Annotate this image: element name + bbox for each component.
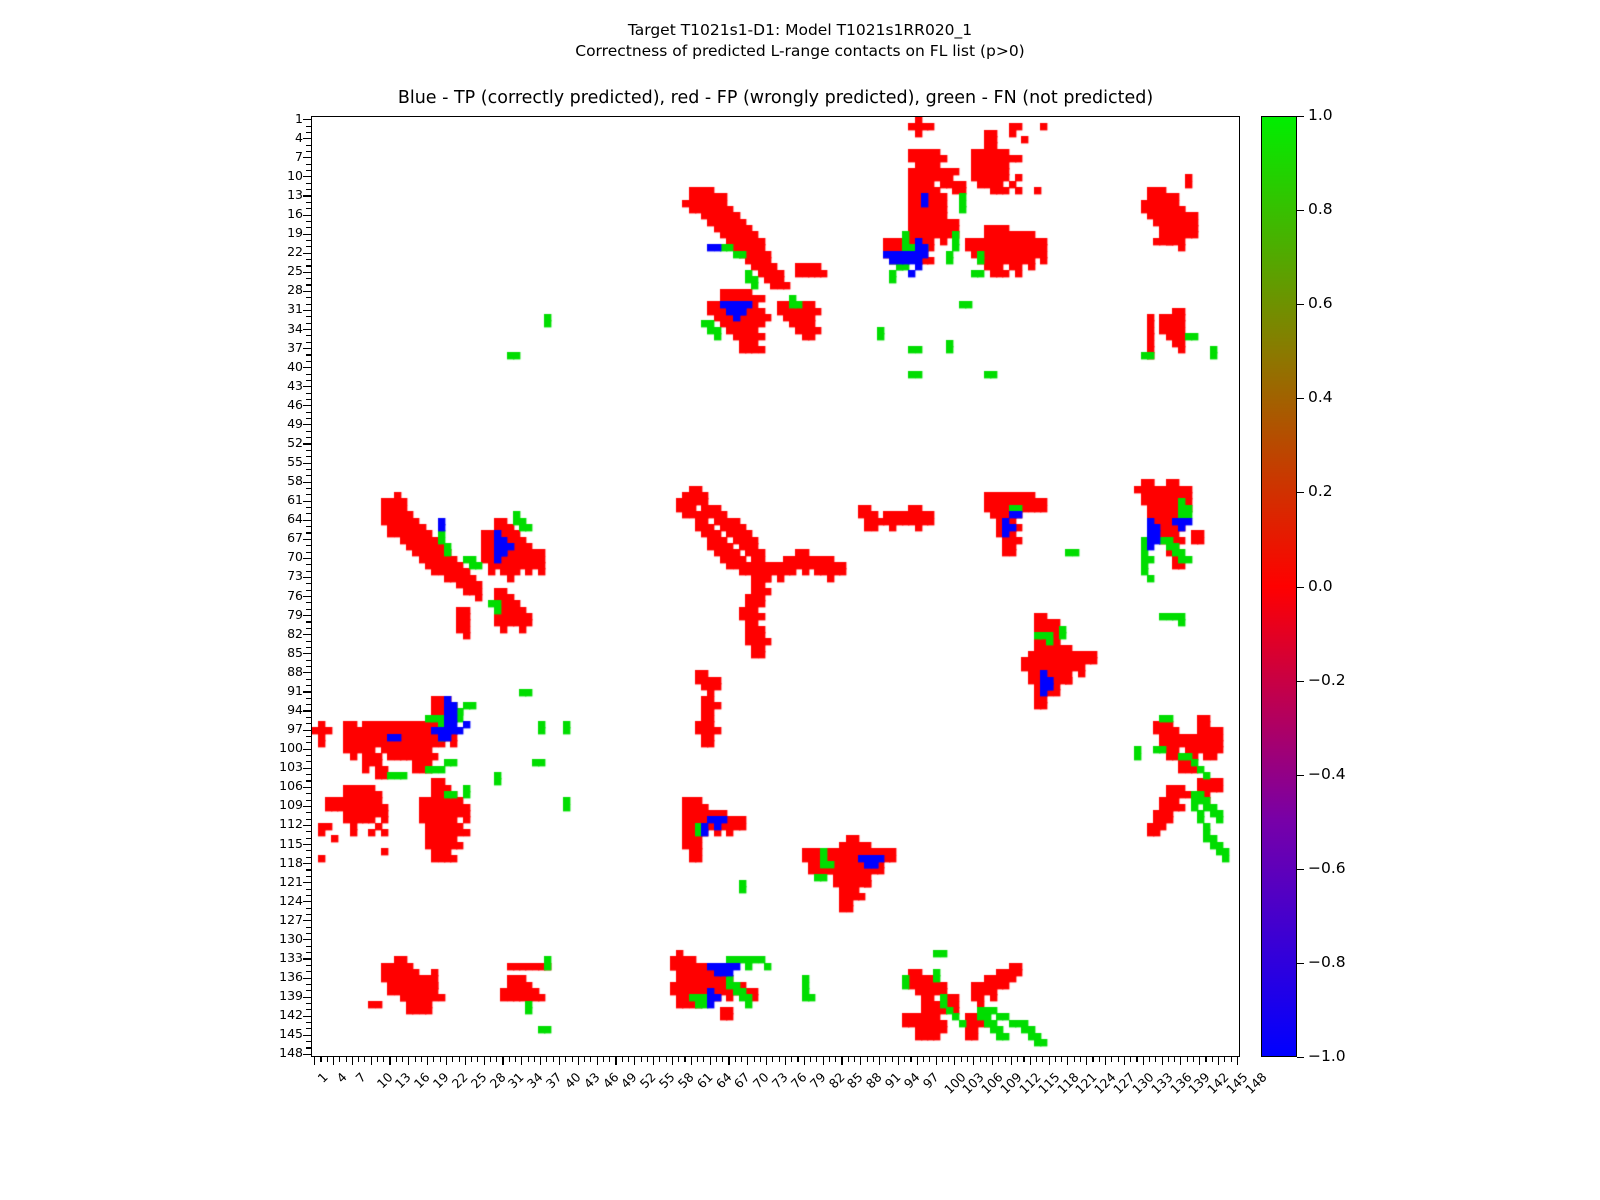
x-tick-major <box>766 1057 767 1065</box>
y-tick-minor <box>306 1028 311 1029</box>
x-tick-major <box>1180 1057 1181 1065</box>
y-tick-minor <box>306 304 311 305</box>
x-tick-minor <box>565 1057 566 1062</box>
y-tick-minor <box>306 278 311 279</box>
y-tick-label: 7 <box>259 151 303 164</box>
colorbar-tick-label: −0.4 <box>1308 767 1346 783</box>
x-tick-minor <box>584 1057 585 1062</box>
x-tick-major <box>559 1057 560 1065</box>
x-tick-minor <box>1149 1057 1150 1062</box>
y-tick-minor <box>306 742 311 743</box>
x-tick-minor <box>647 1057 648 1062</box>
x-tick-minor <box>1074 1057 1075 1062</box>
x-tick-minor <box>1061 1057 1062 1062</box>
y-tick-major <box>303 482 311 483</box>
x-tick-minor <box>1130 1057 1131 1062</box>
y-tick-label: 79 <box>259 609 303 622</box>
y-tick-label: 52 <box>259 437 303 450</box>
x-tick-minor <box>684 1057 685 1062</box>
colorbar-tick-label: −0.8 <box>1308 955 1346 971</box>
x-tick-minor <box>829 1057 830 1062</box>
y-tick-minor <box>306 202 311 203</box>
y-tick-minor <box>306 246 311 247</box>
x-tick-minor <box>1111 1057 1112 1062</box>
x-tick-label: 4 <box>335 1071 349 1085</box>
y-tick-label: 61 <box>259 494 303 507</box>
x-tick-minor <box>1136 1057 1137 1062</box>
colorbar[interactable] <box>1261 116 1297 1057</box>
y-tick-label: 67 <box>259 532 303 545</box>
y-tick-major <box>303 539 311 540</box>
x-tick-minor <box>1055 1057 1056 1062</box>
x-tick-minor <box>854 1057 855 1062</box>
y-tick-label: 115 <box>259 838 303 851</box>
x-tick-minor <box>1187 1057 1188 1062</box>
y-tick-minor <box>306 316 311 317</box>
x-tick-minor <box>1174 1057 1175 1062</box>
y-tick-minor <box>306 297 311 298</box>
x-tick-major <box>1011 1057 1012 1065</box>
x-tick-major <box>597 1057 598 1065</box>
y-tick-major <box>303 749 311 750</box>
y-tick-minor <box>306 812 311 813</box>
y-tick-major <box>303 1035 311 1036</box>
colorbar-tick-label: 0.6 <box>1308 296 1333 312</box>
x-tick-major <box>1143 1057 1144 1065</box>
y-tick-minor <box>306 361 311 362</box>
y-tick-minor <box>306 590 311 591</box>
x-tick-minor <box>1212 1057 1213 1062</box>
colorbar-tick <box>1297 681 1304 682</box>
colorbar-tick-label: −0.2 <box>1308 673 1346 689</box>
x-tick-minor <box>1080 1057 1081 1062</box>
y-tick-minor <box>306 126 311 127</box>
y-tick-major <box>303 634 311 635</box>
y-tick-major <box>303 691 311 692</box>
x-tick-minor <box>509 1057 510 1062</box>
y-tick-major <box>303 138 311 139</box>
x-tick-major <box>333 1057 334 1065</box>
x-tick-minor <box>471 1057 472 1062</box>
y-tick-major <box>303 443 311 444</box>
x-tick-major <box>634 1057 635 1065</box>
y-tick-minor <box>306 800 311 801</box>
y-tick-minor <box>306 1041 311 1042</box>
x-tick-major <box>841 1057 842 1065</box>
x-tick-minor <box>528 1057 529 1062</box>
y-tick-label: 145 <box>259 1028 303 1041</box>
y-tick-major <box>303 272 311 273</box>
x-tick-minor <box>835 1057 836 1062</box>
y-tick-label: 73 <box>259 570 303 583</box>
y-tick-minor <box>306 857 311 858</box>
x-tick-major <box>672 1057 673 1065</box>
x-tick-major <box>1049 1057 1050 1065</box>
y-tick-minor <box>306 984 311 985</box>
y-tick-minor <box>306 354 311 355</box>
y-tick-minor <box>306 850 311 851</box>
x-tick-major <box>1105 1057 1106 1065</box>
y-tick-minor <box>306 698 311 699</box>
y-tick-minor <box>306 469 311 470</box>
x-tick-minor <box>452 1057 453 1062</box>
x-tick-label: 97 <box>921 1071 941 1091</box>
y-tick-minor <box>306 564 311 565</box>
y-tick-label: 109 <box>259 799 303 812</box>
y-tick-label: 22 <box>259 246 303 259</box>
x-tick-major <box>1124 1057 1125 1065</box>
y-tick-minor <box>306 374 311 375</box>
y-tick-major <box>303 119 311 120</box>
x-tick-minor <box>772 1057 773 1062</box>
y-tick-major <box>303 825 311 826</box>
x-tick-minor <box>553 1057 554 1062</box>
y-tick-label: 139 <box>259 990 303 1003</box>
x-tick-minor <box>1193 1057 1194 1062</box>
x-tick-major <box>578 1057 579 1065</box>
x-tick-minor <box>810 1057 811 1062</box>
y-tick-major <box>303 882 311 883</box>
y-tick-minor <box>306 507 311 508</box>
y-tick-minor <box>306 641 311 642</box>
y-tick-minor <box>306 450 311 451</box>
y-tick-label: 28 <box>259 284 303 297</box>
y-tick-major <box>303 768 311 769</box>
y-tick-label: 40 <box>259 361 303 374</box>
x-tick-minor <box>364 1057 365 1062</box>
y-tick-major <box>303 1054 311 1055</box>
x-tick-minor <box>816 1057 817 1062</box>
x-tick-major <box>804 1057 805 1065</box>
y-tick-major <box>303 348 311 349</box>
y-tick-minor <box>306 793 311 794</box>
x-tick-major <box>1162 1057 1163 1065</box>
y-tick-major <box>303 997 311 998</box>
x-tick-minor <box>1168 1057 1169 1062</box>
x-tick-minor <box>760 1057 761 1062</box>
y-tick-major <box>303 424 311 425</box>
x-tick-major <box>521 1057 522 1065</box>
x-tick-major <box>446 1057 447 1065</box>
x-tick-minor <box>867 1057 868 1062</box>
y-tick-minor <box>306 456 311 457</box>
y-tick-label: 49 <box>259 418 303 431</box>
y-tick-minor <box>306 437 311 438</box>
x-tick-minor <box>848 1057 849 1062</box>
y-tick-minor <box>306 189 311 190</box>
y-tick-minor <box>306 526 311 527</box>
y-tick-major <box>303 939 311 940</box>
y-tick-minor <box>306 1003 311 1004</box>
x-tick-minor <box>1155 1057 1156 1062</box>
colorbar-tick-label: −1.0 <box>1308 1049 1346 1065</box>
x-tick-minor <box>892 1057 893 1062</box>
y-tick-minor <box>306 335 311 336</box>
y-tick-label: 55 <box>259 456 303 469</box>
colorbar-tick <box>1297 963 1304 964</box>
y-tick-label: 100 <box>259 742 303 755</box>
x-tick-minor <box>741 1057 742 1062</box>
colorbar-tick-label: 0.8 <box>1308 202 1333 218</box>
y-tick-label: 127 <box>259 914 303 927</box>
x-tick-label: 7 <box>354 1071 368 1085</box>
x-tick-minor <box>980 1057 981 1062</box>
x-tick-minor <box>779 1057 780 1062</box>
y-tick-major <box>303 405 311 406</box>
colorbar-tick <box>1297 775 1304 776</box>
y-tick-minor <box>306 132 311 133</box>
x-tick-minor <box>546 1057 547 1062</box>
y-tick-minor <box>306 895 311 896</box>
y-tick-minor <box>306 819 311 820</box>
colorbar-tick-label: −0.6 <box>1308 861 1346 877</box>
x-tick-minor <box>440 1057 441 1062</box>
y-tick-label: 106 <box>259 780 303 793</box>
x-tick-major <box>484 1057 485 1065</box>
colorbar-tick <box>1297 587 1304 588</box>
y-tick-label: 88 <box>259 666 303 679</box>
y-tick-minor <box>306 431 311 432</box>
x-tick-minor <box>791 1057 792 1062</box>
x-tick-minor <box>1005 1057 1006 1062</box>
contact-map-plot-area[interactable] <box>311 116 1240 1057</box>
x-tick-minor <box>421 1057 422 1062</box>
x-tick-minor <box>754 1057 755 1062</box>
x-tick-major <box>710 1057 711 1065</box>
x-tick-major <box>653 1057 654 1065</box>
y-tick-major <box>303 520 311 521</box>
y-tick-major <box>303 386 311 387</box>
y-tick-major <box>303 901 311 902</box>
x-tick-minor <box>320 1057 321 1062</box>
y-tick-label: 10 <box>259 170 303 183</box>
y-tick-minor <box>306 571 311 572</box>
x-tick-major <box>785 1057 786 1065</box>
x-tick-major <box>465 1057 466 1065</box>
x-tick-major <box>898 1057 899 1065</box>
y-tick-major <box>303 463 311 464</box>
y-tick-label: 13 <box>259 189 303 202</box>
x-tick-major <box>1086 1057 1087 1065</box>
y-tick-minor <box>306 1009 311 1010</box>
y-tick-minor <box>306 621 311 622</box>
y-tick-label: 82 <box>259 628 303 641</box>
y-tick-major <box>303 844 311 845</box>
figure-suptitle-line-1: Target T1021s1-D1: Model T1021s1RR020_1 <box>0 20 1600 41</box>
y-tick-major <box>303 710 311 711</box>
x-tick-minor <box>402 1057 403 1062</box>
colorbar-tick-label: 0.4 <box>1308 390 1333 406</box>
x-tick-minor <box>735 1057 736 1062</box>
y-tick-major <box>303 253 311 254</box>
y-tick-minor <box>306 628 311 629</box>
x-tick-minor <box>534 1057 535 1062</box>
colorbar-tick <box>1297 210 1304 211</box>
y-tick-minor <box>306 946 311 947</box>
y-tick-label: 16 <box>259 208 303 221</box>
y-tick-minor <box>306 952 311 953</box>
x-tick-major <box>1237 1057 1238 1065</box>
y-tick-minor <box>306 990 311 991</box>
x-tick-minor <box>377 1057 378 1062</box>
y-tick-label: 46 <box>259 399 303 412</box>
y-tick-minor <box>306 685 311 686</box>
y-tick-label: 91 <box>259 685 303 698</box>
colorbar-gradient <box>1262 117 1296 1056</box>
x-tick-minor <box>415 1057 416 1062</box>
y-tick-minor <box>306 399 311 400</box>
x-tick-major <box>502 1057 503 1065</box>
y-tick-major <box>303 558 311 559</box>
x-tick-minor <box>1023 1057 1024 1062</box>
x-tick-minor <box>797 1057 798 1062</box>
x-tick-minor <box>490 1057 491 1062</box>
y-tick-label: 70 <box>259 551 303 564</box>
axes-title-legend: Blue - TP (correctly predicted), red - F… <box>311 88 1240 108</box>
y-tick-label: 25 <box>259 265 303 278</box>
x-tick-minor <box>659 1057 660 1062</box>
x-tick-minor <box>910 1057 911 1062</box>
y-tick-label: 34 <box>259 323 303 336</box>
x-tick-minor <box>339 1057 340 1062</box>
x-tick-major <box>936 1057 937 1065</box>
x-tick-major <box>823 1057 824 1065</box>
y-tick-minor <box>306 488 311 489</box>
x-tick-major <box>408 1057 409 1065</box>
x-tick-minor <box>942 1057 943 1062</box>
x-tick-minor <box>641 1057 642 1062</box>
y-tick-label: 64 <box>259 513 303 526</box>
x-tick-minor <box>716 1057 717 1062</box>
y-tick-minor <box>306 838 311 839</box>
y-tick-major <box>303 215 311 216</box>
y-tick-minor <box>306 869 311 870</box>
y-tick-minor <box>306 412 311 413</box>
y-tick-major <box>303 920 311 921</box>
x-tick-minor <box>703 1057 704 1062</box>
y-tick-major <box>303 863 311 864</box>
y-tick-minor <box>306 761 311 762</box>
x-tick-major <box>1218 1057 1219 1065</box>
x-tick-minor <box>1099 1057 1100 1062</box>
y-tick-minor <box>306 679 311 680</box>
y-tick-major <box>303 501 311 502</box>
y-tick-minor <box>306 609 311 610</box>
y-tick-label: 118 <box>259 857 303 870</box>
x-tick-label: 1 <box>316 1071 330 1085</box>
y-tick-minor <box>306 717 311 718</box>
x-tick-major <box>728 1057 729 1065</box>
y-tick-label: 112 <box>259 818 303 831</box>
colorbar-tick <box>1297 869 1304 870</box>
y-tick-major <box>303 367 311 368</box>
x-tick-minor <box>433 1057 434 1062</box>
figure-canvas: Target T1021s1-D1: Model T1021s1RR020_1 … <box>0 0 1600 1200</box>
x-tick-major <box>747 1057 748 1065</box>
y-tick-minor <box>306 513 311 514</box>
y-tick-label: 4 <box>259 132 303 145</box>
x-tick-major <box>917 1057 918 1065</box>
y-tick-minor <box>306 342 311 343</box>
x-tick-minor <box>678 1057 679 1062</box>
y-tick-major <box>303 806 311 807</box>
colorbar-tick-label: 1.0 <box>1308 108 1333 124</box>
y-tick-minor <box>306 145 311 146</box>
y-tick-label: 31 <box>259 303 303 316</box>
y-tick-minor <box>306 552 311 553</box>
x-tick-minor <box>383 1057 384 1062</box>
y-tick-minor <box>306 927 311 928</box>
y-tick-label: 148 <box>259 1047 303 1060</box>
x-tick-minor <box>609 1057 610 1062</box>
y-tick-label: 76 <box>259 590 303 603</box>
y-tick-minor <box>306 259 311 260</box>
y-tick-major <box>303 978 311 979</box>
figure-suptitle-line-2: Correctness of predicted L-range contact… <box>0 41 1600 62</box>
y-tick-minor <box>306 971 311 972</box>
x-tick-major <box>973 1057 974 1065</box>
x-tick-major <box>540 1057 541 1065</box>
y-tick-minor <box>306 170 311 171</box>
x-tick-minor <box>1224 1057 1225 1062</box>
y-tick-major <box>303 653 311 654</box>
x-tick-major <box>352 1057 353 1065</box>
x-tick-minor <box>697 1057 698 1062</box>
x-tick-major <box>954 1057 955 1065</box>
x-tick-minor <box>1231 1057 1232 1062</box>
x-tick-major <box>427 1057 428 1065</box>
x-tick-minor <box>628 1057 629 1062</box>
y-tick-label: 133 <box>259 952 303 965</box>
y-tick-minor <box>306 723 311 724</box>
y-tick-major <box>303 329 311 330</box>
y-tick-minor <box>306 914 311 915</box>
y-tick-label: 1 <box>259 113 303 126</box>
y-tick-label: 58 <box>259 475 303 488</box>
y-tick-label: 94 <box>259 704 303 717</box>
y-tick-minor <box>306 755 311 756</box>
y-tick-minor <box>306 221 311 222</box>
x-tick-minor <box>358 1057 359 1062</box>
x-tick-minor <box>873 1057 874 1062</box>
y-tick-minor <box>306 183 311 184</box>
y-tick-label: 142 <box>259 1009 303 1022</box>
y-tick-minor <box>306 418 311 419</box>
y-tick-label: 136 <box>259 971 303 984</box>
y-tick-minor <box>306 965 311 966</box>
y-tick-minor <box>306 704 311 705</box>
colorbar-tick <box>1297 116 1304 117</box>
y-tick-major <box>303 787 311 788</box>
x-tick-minor <box>622 1057 623 1062</box>
y-tick-major <box>303 672 311 673</box>
y-tick-major <box>303 1016 311 1017</box>
y-tick-minor <box>306 323 311 324</box>
colorbar-tick <box>1297 304 1304 305</box>
y-tick-major <box>303 730 311 731</box>
y-tick-label: 43 <box>259 380 303 393</box>
y-tick-label: 37 <box>259 342 303 355</box>
y-tick-label: 124 <box>259 895 303 908</box>
x-tick-minor <box>1036 1057 1037 1062</box>
y-tick-minor <box>306 265 311 266</box>
x-tick-minor <box>1017 1057 1018 1062</box>
x-tick-minor <box>986 1057 987 1062</box>
y-tick-label: 103 <box>259 761 303 774</box>
y-tick-label: 19 <box>259 227 303 240</box>
x-tick-major <box>879 1057 880 1065</box>
colorbar-tick <box>1297 492 1304 493</box>
